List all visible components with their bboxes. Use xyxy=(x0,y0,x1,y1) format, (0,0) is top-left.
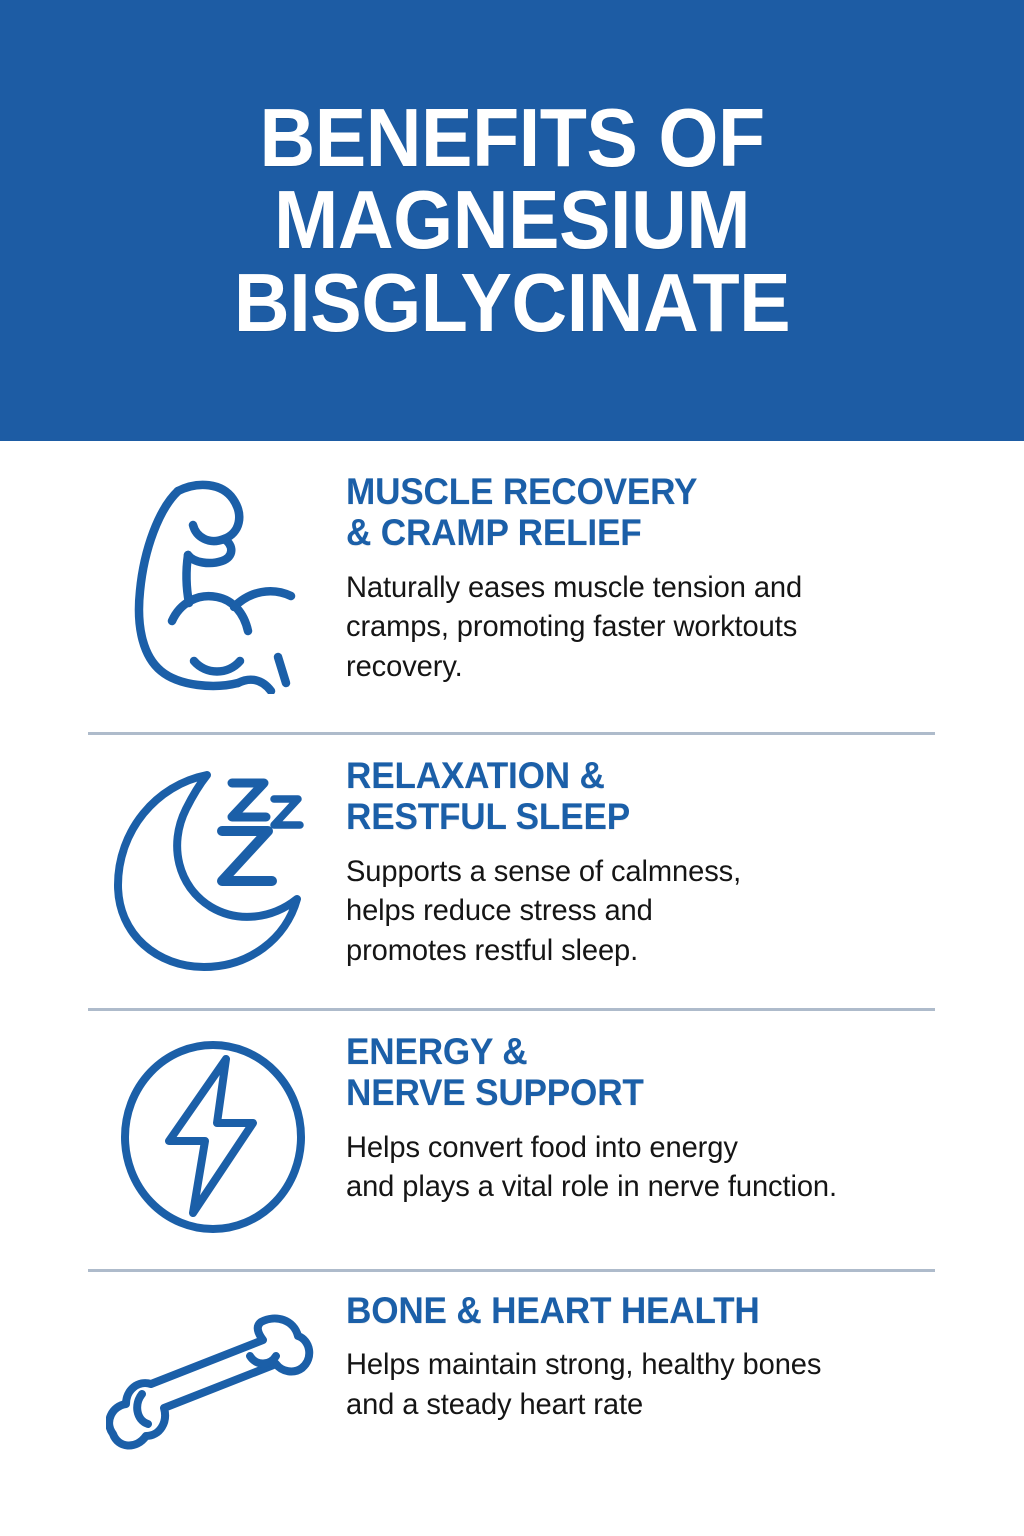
benefit-text-block: BONE & HEART HEALTH Helps maintain stron… xyxy=(338,1290,964,1425)
benefit-heading: MUSCLE RECOVERY & CRAMP RELIEF xyxy=(346,471,933,554)
benefit-text-block: MUSCLE RECOVERY & CRAMP RELIEF Naturally… xyxy=(338,471,964,687)
bone-icon xyxy=(88,1290,338,1462)
benefit-text-block: RELAXATION & RESTFUL SLEEP Supports a se… xyxy=(338,755,964,971)
benefit-item-bone-heart: BONE & HEART HEALTH Helps maintain stron… xyxy=(0,1272,1024,1462)
benefit-description: Helps convert food into energy and plays… xyxy=(346,1128,945,1207)
benefit-description: Naturally eases muscle tension and cramp… xyxy=(346,568,945,687)
flexed-bicep-icon xyxy=(88,471,338,694)
benefit-item-energy-nerve: ENERGY & NERVE SUPPORT Helps convert foo… xyxy=(0,1011,1024,1237)
benefit-description: Supports a sense of calmness, helps redu… xyxy=(346,852,945,971)
benefits-list: MUSCLE RECOVERY & CRAMP RELIEF Naturally… xyxy=(0,441,1024,1462)
lightning-bolt-circle-icon xyxy=(88,1031,338,1237)
page-title: BENEFITS OF MAGNESIUM BISGLYCINATE xyxy=(234,97,790,343)
benefit-heading: BONE & HEART HEALTH xyxy=(346,1290,933,1331)
benefit-heading: ENERGY & NERVE SUPPORT xyxy=(346,1031,933,1114)
benefit-item-muscle-recovery: MUSCLE RECOVERY & CRAMP RELIEF Naturally… xyxy=(0,441,1024,694)
benefit-item-relaxation-sleep: RELAXATION & RESTFUL SLEEP Supports a se… xyxy=(0,735,1024,974)
crescent-moon-zzz-icon xyxy=(88,755,338,974)
infographic-poster: BENEFITS OF MAGNESIUM BISGLYCINATE xyxy=(0,0,1024,1536)
benefit-heading: RELAXATION & RESTFUL SLEEP xyxy=(346,755,933,838)
header-banner: BENEFITS OF MAGNESIUM BISGLYCINATE xyxy=(0,0,1024,441)
benefit-text-block: ENERGY & NERVE SUPPORT Helps convert foo… xyxy=(338,1031,964,1207)
benefit-description: Helps maintain strong, healthy bones and… xyxy=(346,1345,945,1424)
